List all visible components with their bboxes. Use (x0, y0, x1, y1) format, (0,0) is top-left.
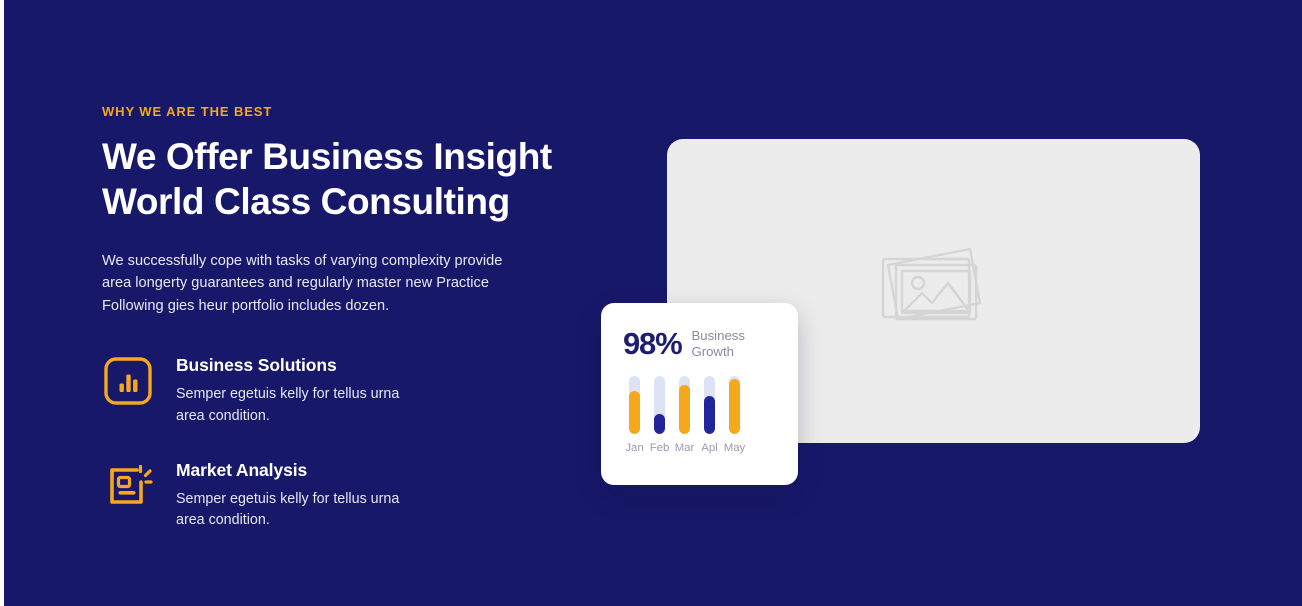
intro-paragraph: We successfully cope with tasks of varyi… (102, 250, 534, 317)
bar-chart-square-icon (102, 355, 154, 407)
text-column: WHY WE ARE THE BEST We Offer Business In… (102, 104, 572, 532)
chart-bar-track (729, 376, 740, 434)
feature-description: Semper egetuis kelly for tellus urna are… (176, 384, 406, 427)
chart-bar-fill (654, 414, 665, 434)
feature-title: Business Solutions (176, 355, 406, 376)
feature-text-market-analysis: Market Analysis Semper egetuis kelly for… (176, 458, 406, 532)
chart-bar-fill (629, 391, 640, 435)
chart-bar-track (679, 376, 690, 434)
chart-bar-track (704, 376, 715, 434)
feature-title: Market Analysis (176, 460, 406, 481)
slide-root: WHY WE ARE THE BEST We Offer Business In… (0, 0, 1302, 606)
page-title: We Offer Business Insight World Class Co… (102, 134, 562, 224)
headline-line-1: We Offer Business Insight (102, 136, 552, 177)
eyebrow-label: WHY WE ARE THE BEST (102, 104, 572, 120)
chart-x-tick-label: Jan (625, 442, 643, 454)
stat-label: Business Growth (691, 328, 761, 359)
image-placeholder-icon (874, 243, 994, 340)
monthly-growth-bar-chart: JanFebMarAplMay (601, 359, 798, 454)
chart-bar-column: Mar (678, 376, 691, 454)
feature-item-market-analysis: Market Analysis Semper egetuis kelly for… (102, 458, 572, 532)
headline-line-2: World Class Consulting (102, 181, 510, 222)
chart-bar-column: Feb (653, 376, 666, 454)
chart-bar-fill (729, 379, 740, 434)
feature-description: Semper egetuis kelly for tellus urna are… (176, 489, 406, 532)
chart-bar-track (654, 376, 665, 434)
business-growth-stat-card: 98% Business Growth JanFebMarAplMay (601, 303, 798, 485)
feature-item-business-solutions: Business Solutions Semper egetuis kelly … (102, 353, 572, 427)
chart-bar-column: May (728, 376, 741, 454)
chart-x-tick-label: Feb (650, 442, 670, 454)
chart-bar-column: Apl (703, 376, 716, 454)
feature-text-business-solutions: Business Solutions Semper egetuis kelly … (176, 353, 406, 427)
stat-value: 98% (623, 328, 681, 359)
chart-bar-column: Jan (628, 376, 641, 454)
feature-list: Business Solutions Semper egetuis kelly … (102, 353, 572, 532)
market-analysis-icon (102, 460, 154, 512)
chart-bar-fill (679, 385, 690, 434)
chart-x-tick-label: Apl (701, 442, 717, 454)
chart-bar-track (629, 376, 640, 434)
chart-bar-fill (704, 396, 715, 434)
chart-x-tick-label: Mar (675, 442, 695, 454)
chart-x-tick-label: May (724, 442, 746, 454)
stat-card-header: 98% Business Growth (601, 303, 798, 359)
